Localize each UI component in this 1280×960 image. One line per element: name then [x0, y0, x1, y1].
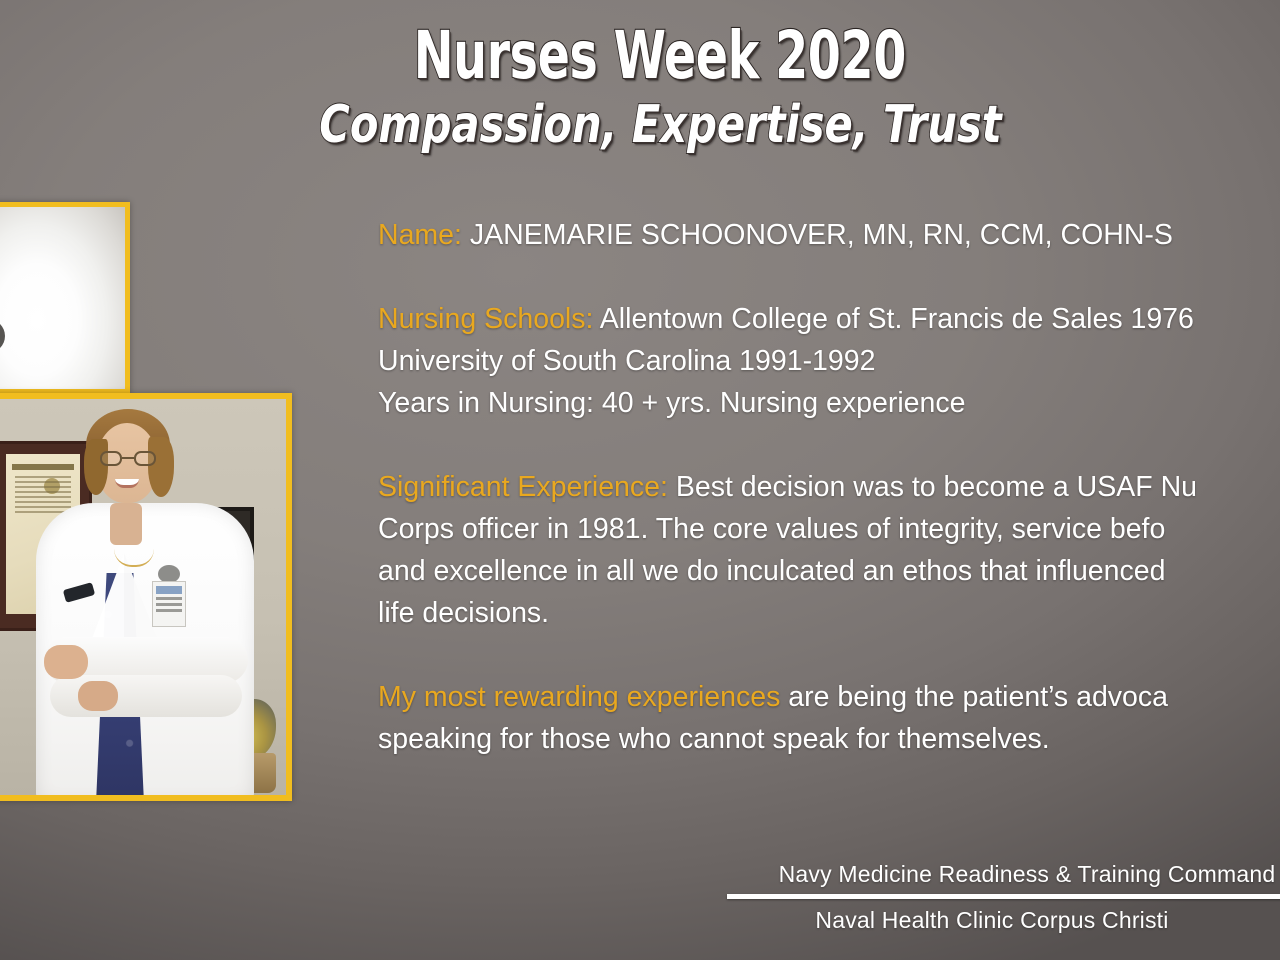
diploma-line	[15, 496, 71, 498]
significant-experience-block: Significant Experience: Best decision wa…	[378, 466, 1280, 634]
diploma-line	[15, 506, 71, 508]
name-value: JANEMARIE SCHOONOVER, MN, RN, CCM, COHN-…	[470, 219, 1173, 251]
name-label: Name:	[378, 219, 462, 251]
name-block: Name: JANEMARIE SCHOONOVER, MN, RN, CCM,…	[378, 214, 1280, 256]
experience-line-3: and excellence in all we do inculcated a…	[378, 550, 1280, 592]
experience-line-1: Best decision was to become a USAF Nu	[676, 471, 1197, 503]
photo-top-shadow-blot	[0, 319, 5, 353]
rewarding-label: My most rewarding experiences	[378, 681, 780, 713]
schools-label: Nursing Schools:	[378, 303, 593, 335]
name-row: Name: JANEMARIE SCHOONOVER, MN, RN, CCM,…	[378, 214, 1280, 256]
diploma-line	[15, 481, 71, 483]
footer-clinic-name: Naval Health Clinic Corpus Christi	[727, 907, 1280, 934]
footer-command-name: Navy Medicine Readiness & Training Comma…	[727, 861, 1280, 888]
experience-row: Significant Experience: Best decision wa…	[378, 466, 1280, 508]
diploma-line	[15, 491, 71, 493]
hair-right-side	[148, 437, 174, 497]
rewarding-row: My most rewarding experiences are being …	[378, 676, 1280, 718]
neck	[110, 503, 142, 545]
portrait-illustration	[0, 399, 286, 795]
eyeglasses-icon	[100, 451, 156, 466]
rewarding-experiences-block: My most rewarding experiences are being …	[378, 676, 1280, 760]
schools-line-2: University of South Carolina 1991-1992	[378, 340, 1280, 382]
hand-left	[44, 645, 88, 679]
page-title: Nurses Week 2020	[414, 24, 906, 87]
id-badge	[152, 581, 186, 627]
footer: Navy Medicine Readiness & Training Comma…	[727, 861, 1280, 934]
experience-line-4: life decisions.	[378, 592, 1280, 634]
photo-bottom-portrait	[0, 393, 292, 801]
rewarding-line-2: speaking for those who cannot speak for …	[378, 718, 1280, 760]
schools-row: Nursing Schools: Allentown College of St…	[378, 298, 1280, 340]
diploma-line	[15, 476, 71, 478]
slide-canvas: Nurses Week 2020 Compassion, Expertise, …	[0, 0, 1280, 960]
diploma-heading-bar	[12, 464, 74, 470]
page-subtitle: Compassion, Expertise, Trust	[319, 99, 1001, 151]
experience-label: Significant Experience:	[378, 471, 668, 503]
body-copy: Name: JANEMARIE SCHOONOVER, MN, RN, CCM,…	[378, 214, 1280, 760]
rewarding-line-1: are being the patient’s advoca	[788, 681, 1168, 713]
footer-divider	[727, 894, 1280, 899]
years-in-nursing-line: Years in Nursing: 40 + yrs. Nursing expe…	[378, 382, 1280, 424]
hand-right	[78, 681, 118, 711]
schools-line-1: Allentown College of St. Francis de Sale…	[600, 303, 1194, 335]
schools-block: Nursing Schools: Allentown College of St…	[378, 298, 1280, 424]
photo-top-document	[0, 202, 130, 394]
title-block: Nurses Week 2020 Compassion, Expertise, …	[0, 24, 1280, 151]
diploma-line	[15, 486, 71, 488]
experience-line-2: Corps officer in 1981. The core values o…	[378, 508, 1280, 550]
hair-left-side	[84, 439, 108, 495]
diploma-line	[15, 501, 71, 503]
